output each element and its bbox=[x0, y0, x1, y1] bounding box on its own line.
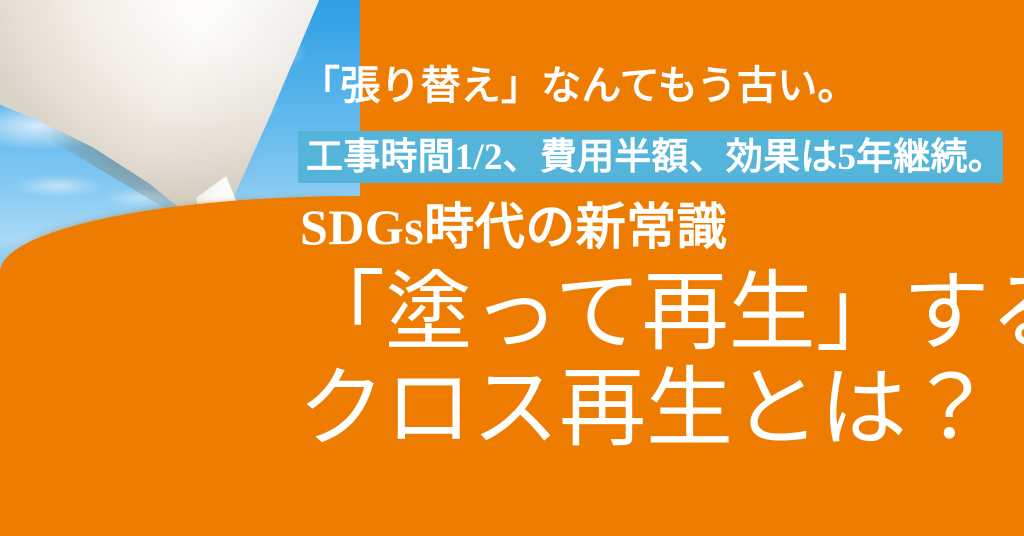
headline: 「塗って再生」する クロス再生とは？ bbox=[298, 268, 1024, 455]
headline-line-2: クロス再生とは？ bbox=[298, 364, 1024, 454]
highlight-bar: 工事時間1/2、費用半額、効果は5年継続。 bbox=[298, 131, 1003, 183]
promo-banner: 愛知県三河市 エリア限定！ 「張り替え」なんてもう古い。 工事時間1/2、費用半… bbox=[0, 0, 1024, 536]
highlight-text: 工事時間1/2、費用半額、効果は5年継続。 bbox=[298, 139, 1005, 176]
kicker-text: SDGs時代の新常識 bbox=[300, 202, 727, 252]
copy-block: 「張り替え」なんてもう古い。 工事時間1/2、費用半額、効果は5年継続。 SDG… bbox=[298, 0, 1024, 536]
lead-text: 「張り替え」なんてもう古い。 bbox=[300, 66, 858, 106]
headline-line-1: 「塗って再生」する bbox=[298, 268, 1024, 358]
